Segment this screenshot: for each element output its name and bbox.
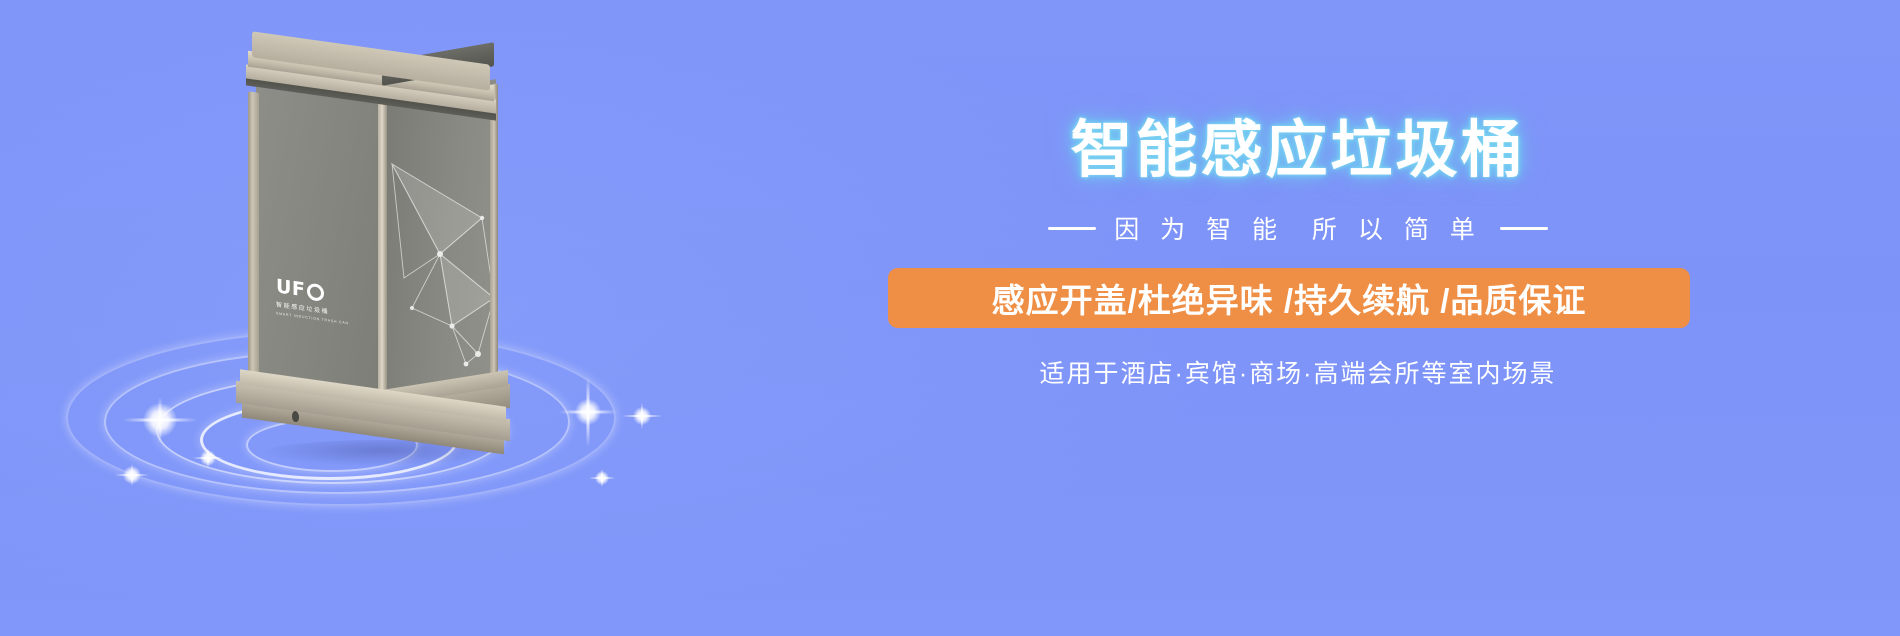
bin-corner-trim-right bbox=[490, 83, 498, 384]
subline-text: 因 为 智 能 所 以 简 单 bbox=[1114, 210, 1482, 246]
product-image: UF 智能感应垃圾桶 SMART INDUCTION TRASH CAN bbox=[60, 30, 720, 550]
features-badge: 感应开盖/杜绝异味 /持久续航 /品质保证 bbox=[888, 268, 1690, 328]
bin-panel-left bbox=[256, 87, 388, 406]
features-badge-text: 感应开盖/杜绝异味 /持久续航 /品质保证 bbox=[992, 274, 1587, 322]
banner-copy: 智能感应垃圾桶 因 为 智 能 所 以 简 单 感应开盖/杜绝异味 /持久续航 … bbox=[888, 120, 1708, 390]
logo-letters: UF bbox=[276, 277, 305, 300]
polygon-network-graphic bbox=[382, 158, 502, 388]
banner-subline: 因 为 智 能 所 以 简 单 bbox=[888, 210, 1708, 246]
subline-rule-right bbox=[1500, 227, 1548, 230]
banner-tagline: 适用于酒店·宾馆·商场·高端会所等室内场景 bbox=[888, 354, 1708, 390]
subline-rule-left bbox=[1048, 227, 1096, 230]
bin-corner-trim-center bbox=[378, 90, 387, 400]
bin-lock-keyhole bbox=[292, 411, 299, 423]
smart-trash-bin: UF 智能感应垃圾桶 SMART INDUCTION TRASH CAN bbox=[232, 48, 532, 448]
banner-headline: 智能感应垃圾桶 bbox=[888, 120, 1708, 182]
logo-ring-icon bbox=[307, 283, 324, 302]
bin-corner-trim-left bbox=[248, 91, 259, 399]
promo-banner: UF 智能感应垃圾桶 SMART INDUCTION TRASH CAN 智能感… bbox=[0, 0, 1900, 636]
